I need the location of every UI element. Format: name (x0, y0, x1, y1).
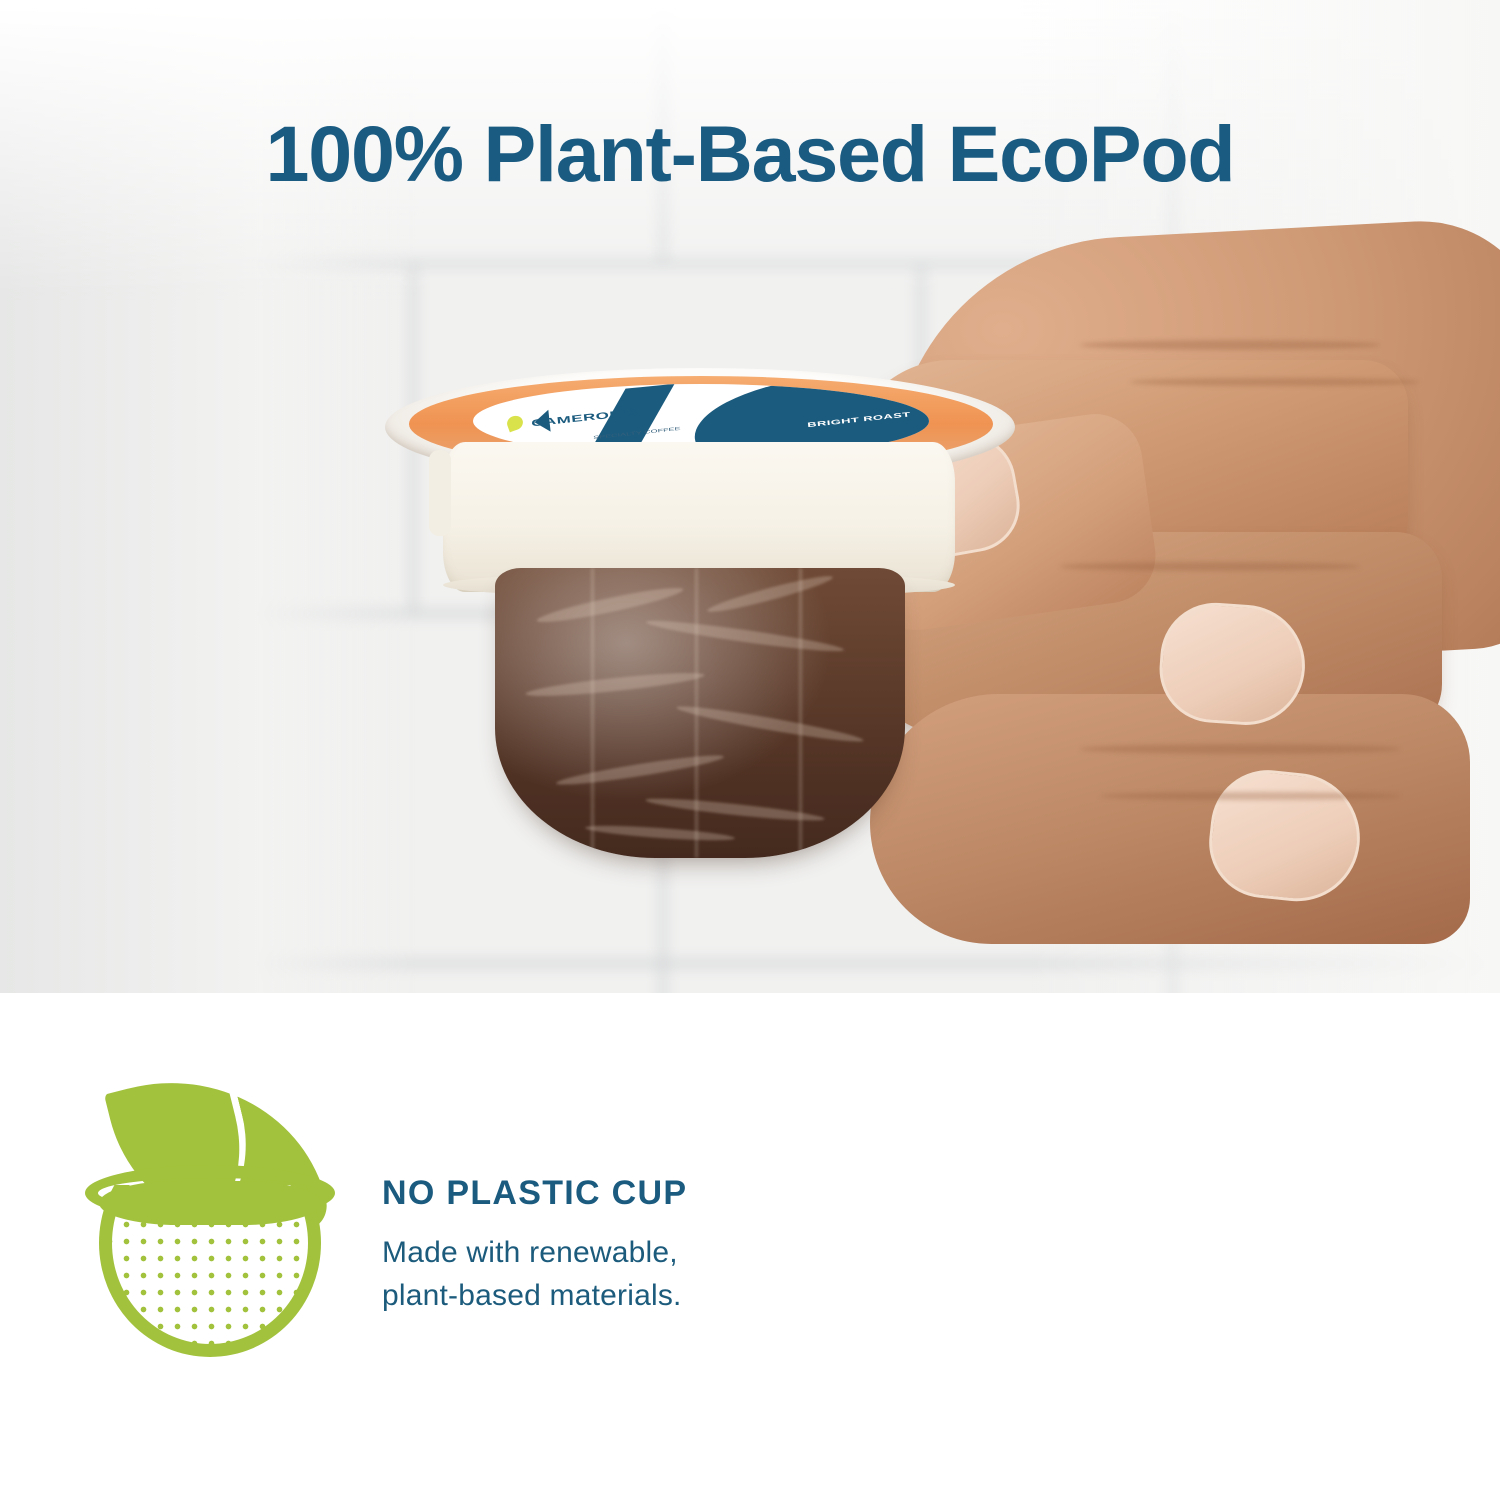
feature-a-body-line-1: Made with renewable, (382, 1232, 782, 1275)
feature-better-taste: BETTER TASTE Brew through a real coffee … (760, 993, 1500, 1500)
pod-fiber-filter-bag (495, 568, 905, 858)
feature-a-body: Made with renewable, plant-based materia… (382, 1232, 782, 1317)
feature-a-body-line-2: plant-based materials. (382, 1275, 782, 1318)
feature-row: NO PLASTIC CUP Made with renewable, plan… (0, 993, 1500, 1500)
pod-collar-tab (429, 450, 451, 536)
feature-no-plastic-cup: NO PLASTIC CUP Made with renewable, plan… (0, 993, 760, 1500)
feature-a-text: NO PLASTIC CUP Made with renewable, plan… (382, 1176, 782, 1317)
hero-photo: 100% Plant-Based EcoPod (0, 0, 1500, 993)
pod-leaf-dot-icon (505, 414, 525, 433)
leaf-in-filter-basket-icon (85, 1077, 335, 1377)
filter-band-icon (99, 1181, 321, 1225)
page-title: 100% Plant-Based EcoPod (0, 108, 1500, 200)
ecopod-coffee-pod: CAMERON'S SPECIALTY COFFEE BRIGHT ROAST (385, 368, 1015, 828)
feature-a-heading: NO PLASTIC CUP (382, 1176, 782, 1210)
product-feature-page: 100% Plant-Based EcoPod (0, 0, 1500, 1500)
